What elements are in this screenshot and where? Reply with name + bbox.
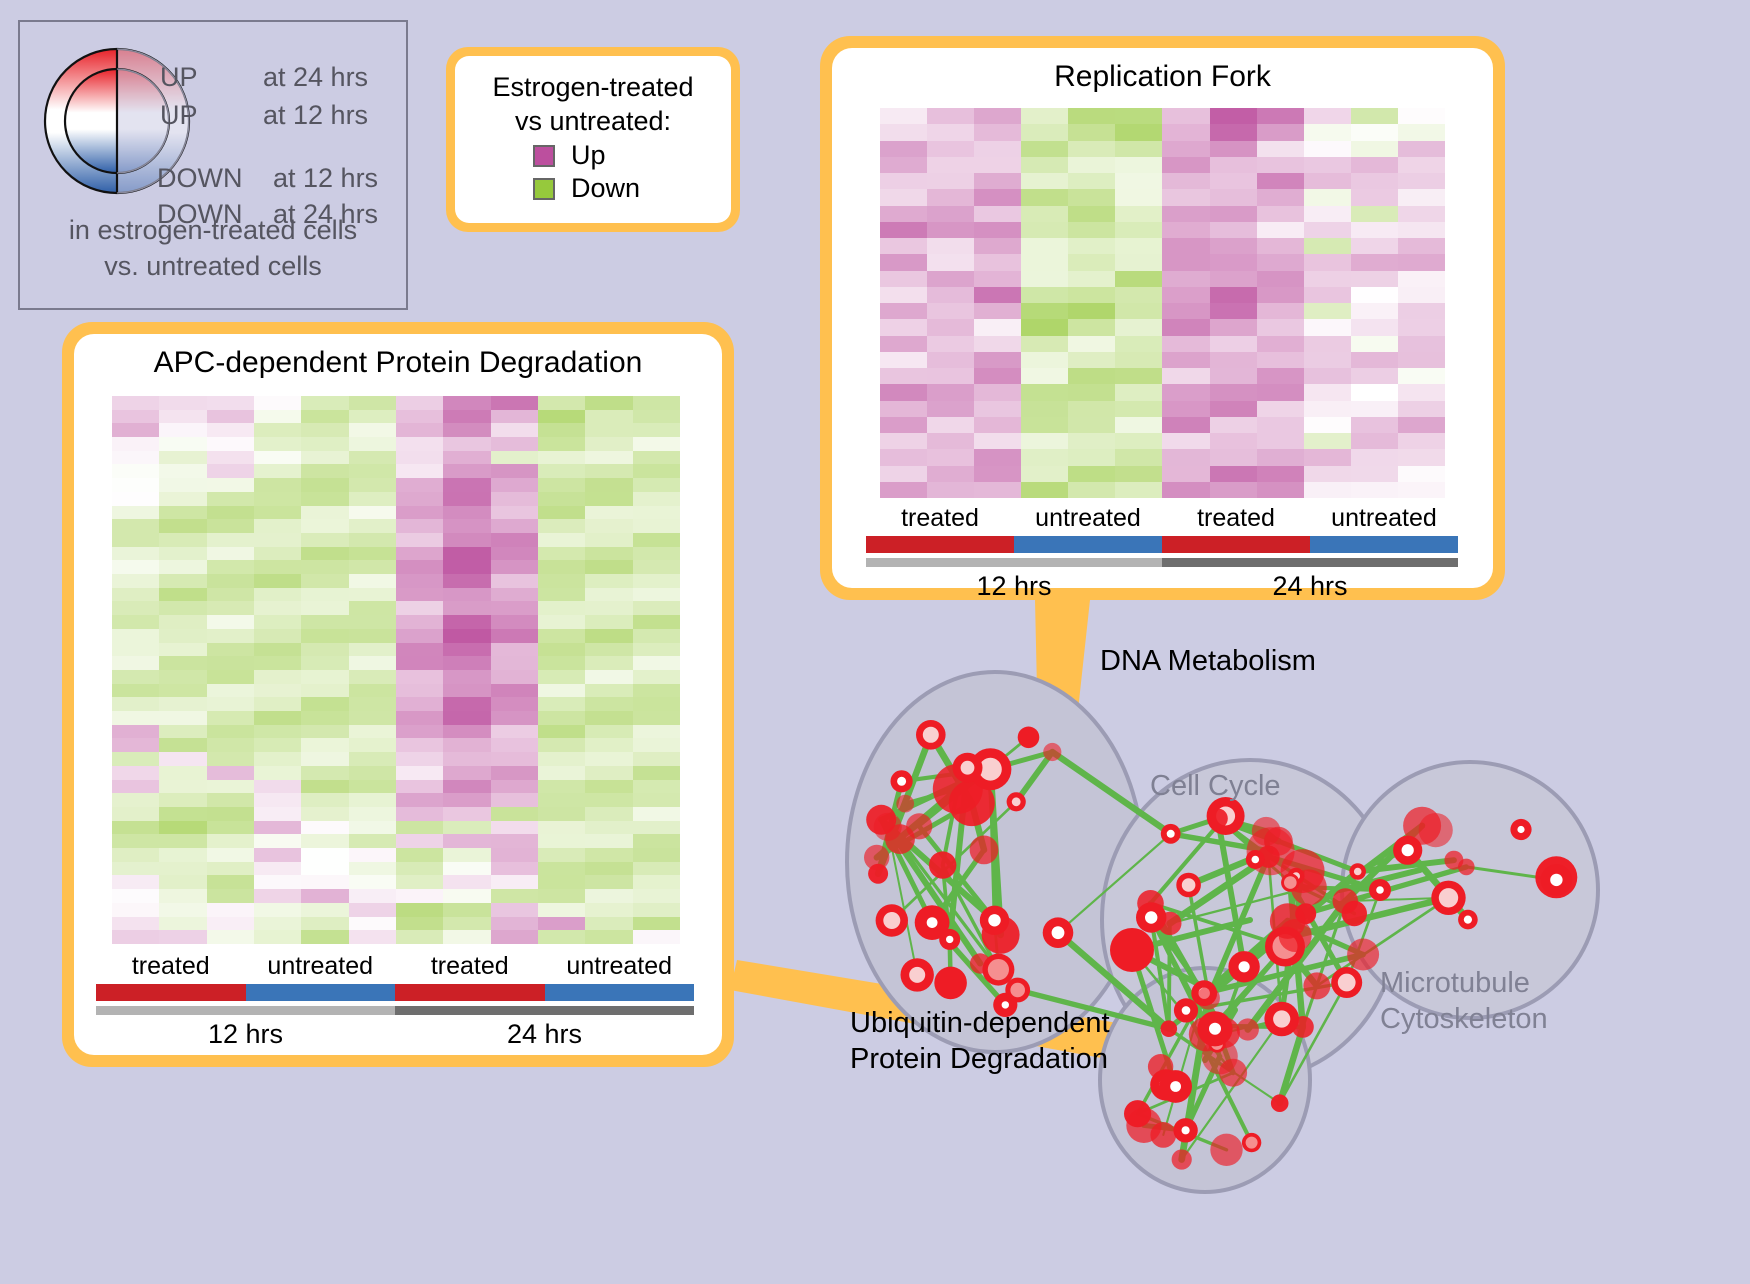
heatmap-cell xyxy=(974,319,1021,335)
heatmap-cell xyxy=(443,862,490,876)
heatmap-cell xyxy=(301,780,348,794)
heatmap-cell xyxy=(159,588,206,602)
heatmap-cell xyxy=(254,574,301,588)
heatmap-cell xyxy=(301,793,348,807)
heatmap-cell xyxy=(974,222,1021,238)
heatmap-cell xyxy=(1162,433,1209,449)
heatmap-cell xyxy=(585,752,632,766)
network-node xyxy=(934,967,967,1000)
heatmap-cell xyxy=(396,848,443,862)
heatmap-cell xyxy=(1351,124,1398,140)
bar-untreated-24 xyxy=(1310,536,1458,553)
heatmap-cell xyxy=(301,807,348,821)
network-node-core xyxy=(988,959,1009,980)
heatmap-cell xyxy=(927,206,974,222)
heatmap-cell xyxy=(491,917,538,931)
heatmap-cell xyxy=(974,336,1021,352)
heatmap-cell xyxy=(633,766,680,780)
heatmap-cell xyxy=(443,807,490,821)
heatmap-cell xyxy=(1115,141,1162,157)
heatmap-cell xyxy=(443,917,490,931)
heatmap-cell xyxy=(254,615,301,629)
heatmap-cell xyxy=(396,697,443,711)
heatmap-cell xyxy=(1210,352,1257,368)
heatmap-cell xyxy=(301,410,348,424)
heatmap-cell xyxy=(349,862,396,876)
heatmap-cell xyxy=(927,401,974,417)
heatmap-cell xyxy=(1210,482,1257,498)
heatmap-cell xyxy=(396,656,443,670)
heatmap-cell xyxy=(301,711,348,725)
heatmap-cell xyxy=(301,862,348,876)
heatmap-cell xyxy=(1210,173,1257,189)
heatmap-cell xyxy=(974,482,1021,498)
heatmap-cell xyxy=(538,643,585,657)
heatmap-cell xyxy=(1115,271,1162,287)
heatmap-cell xyxy=(1068,384,1115,400)
heatmap-cell xyxy=(207,601,254,615)
heatmap-cell xyxy=(1304,401,1351,417)
heatmap-cell xyxy=(207,752,254,766)
heatmap-cell xyxy=(159,917,206,931)
heatmap-cell xyxy=(443,766,490,780)
heatmap-cell xyxy=(491,437,538,451)
heatmap-cell xyxy=(159,629,206,643)
heatmap-cell xyxy=(1257,352,1304,368)
heatmap-cell xyxy=(491,848,538,862)
bar-untreated-12 xyxy=(246,984,396,1001)
time-labels-apc: 12 hrs 24 hrs xyxy=(96,1019,694,1050)
heatmap-cell xyxy=(880,384,927,400)
heatmap-cell xyxy=(491,451,538,465)
heatmap-cell xyxy=(1398,466,1445,482)
heatmap-cell xyxy=(443,437,490,451)
heatmap-cell xyxy=(112,506,159,520)
network-node xyxy=(1161,1020,1178,1037)
heatmap-cell xyxy=(301,656,348,670)
heatmap-cell xyxy=(1068,336,1115,352)
heatmap-cell xyxy=(1351,141,1398,157)
heatmap-cell xyxy=(159,492,206,506)
heatmap-cell xyxy=(159,793,206,807)
heatmap-cell xyxy=(927,124,974,140)
heatmap-cell xyxy=(633,533,680,547)
heatmap-cell xyxy=(112,588,159,602)
heatmap-cell xyxy=(112,601,159,615)
heatmap-cell xyxy=(1257,401,1304,417)
cluster-label-ubiquitin: Ubiquitin-dependent Protein Degradation xyxy=(850,1005,1110,1077)
heatmap-cell xyxy=(491,656,538,670)
group-label-treated-12: treated xyxy=(866,504,1014,533)
network-node-core xyxy=(1338,974,1356,992)
network-node xyxy=(1197,986,1220,1009)
heatmap-cell xyxy=(159,738,206,752)
heatmap-cell xyxy=(349,547,396,561)
heatmap-cell xyxy=(443,834,490,848)
heatmap-cell xyxy=(349,643,396,657)
heatmap-cell xyxy=(491,396,538,410)
heatmap-cell xyxy=(538,834,585,848)
heatmap-cell xyxy=(585,917,632,931)
group-label-untreated-12: untreated xyxy=(1014,504,1162,533)
heatmap-cell xyxy=(1068,352,1115,368)
heatmap-cell xyxy=(1304,254,1351,270)
heatmap-cell xyxy=(396,533,443,547)
heatmap-cell xyxy=(880,238,927,254)
heatmap-cell xyxy=(974,238,1021,254)
heatmap-cell xyxy=(1304,319,1351,335)
heatmap-cell xyxy=(585,670,632,684)
heatmap-cell xyxy=(1021,287,1068,303)
heatmap-cell xyxy=(1162,108,1209,124)
heatmap-cell xyxy=(254,889,301,903)
heatmap-cell xyxy=(159,396,206,410)
heatmap-cell xyxy=(633,492,680,506)
heatmap-cell xyxy=(1115,254,1162,270)
heatmap-cell xyxy=(443,903,490,917)
heatmap-cell xyxy=(1068,173,1115,189)
heatmap-cell xyxy=(633,423,680,437)
heatmap-cell xyxy=(159,601,206,615)
heatmap-cell xyxy=(112,519,159,533)
heatmap-cell xyxy=(159,560,206,574)
heatmap-cell xyxy=(1210,141,1257,157)
heatmap-cell xyxy=(633,464,680,478)
cluster-label-dna-metabolism: DNA Metabolism xyxy=(1100,645,1316,678)
heatmap-cell xyxy=(1304,287,1351,303)
heatmap-cell xyxy=(1210,124,1257,140)
heatmap-cell xyxy=(443,396,490,410)
heatmap-cell xyxy=(396,464,443,478)
heatmap-cell xyxy=(349,601,396,615)
network-node-core xyxy=(1052,926,1065,939)
heatmap-cell xyxy=(254,917,301,931)
heatmap-cell xyxy=(633,793,680,807)
heatmap-cell xyxy=(1068,433,1115,449)
heatmap-cell xyxy=(1162,336,1209,352)
heatmap-cell xyxy=(974,384,1021,400)
heatmap-cell xyxy=(1115,466,1162,482)
panel-replication-fork: Replication Fork treated untreated treat… xyxy=(820,36,1505,600)
heatmap-cell xyxy=(207,711,254,725)
network-node-core xyxy=(1439,888,1458,907)
heatmap-cell xyxy=(207,437,254,451)
network-node xyxy=(896,795,914,813)
heatmap-cell xyxy=(254,752,301,766)
heatmap-cell xyxy=(443,588,490,602)
heatmap-cell xyxy=(927,417,974,433)
heatmap-cell xyxy=(585,533,632,547)
heatmap-cell xyxy=(112,738,159,752)
heatmap-cell xyxy=(1398,352,1445,368)
heatmap-cell xyxy=(538,752,585,766)
heatmap-cell xyxy=(491,615,538,629)
heatmap-cell xyxy=(159,889,206,903)
heatmap-cell xyxy=(1257,238,1304,254)
heatmap-cell xyxy=(443,574,490,588)
heatmap-cell xyxy=(207,903,254,917)
network-node xyxy=(1172,1149,1192,1169)
heatmap-cell xyxy=(880,222,927,238)
heatmap-cell xyxy=(396,670,443,684)
bar-treated-24 xyxy=(1162,536,1310,553)
heatmap-cell xyxy=(396,492,443,506)
heatmap-cell xyxy=(349,834,396,848)
heatmap-cell xyxy=(254,643,301,657)
heatmap-cell xyxy=(880,108,927,124)
heatmap-cell xyxy=(585,478,632,492)
heatmap-cell xyxy=(112,917,159,931)
heatmap-cell xyxy=(538,396,585,410)
heatmap-cell xyxy=(1021,417,1068,433)
heatmap-cell xyxy=(112,711,159,725)
heatmap-cell xyxy=(254,766,301,780)
heatmap-cell xyxy=(491,588,538,602)
heatmap-cell xyxy=(159,752,206,766)
heatmap-cell xyxy=(1398,189,1445,205)
heatmap-cell xyxy=(1210,466,1257,482)
heatmap-cell xyxy=(880,287,927,303)
heatmap-cell xyxy=(396,725,443,739)
heatmap-cell xyxy=(1257,108,1304,124)
heatmap-cell xyxy=(633,834,680,848)
heatmap-cell xyxy=(396,410,443,424)
heatmap-cell xyxy=(301,547,348,561)
heatmap-cell xyxy=(1115,157,1162,173)
heatmap-cell xyxy=(349,889,396,903)
heatmap-cell xyxy=(1068,401,1115,417)
heatmap-cell xyxy=(254,656,301,670)
heatmap-cell xyxy=(927,303,974,319)
heatmap-cell xyxy=(585,396,632,410)
heatmap-cell xyxy=(538,464,585,478)
heatmap-cell xyxy=(301,738,348,752)
heatmap-cell xyxy=(1210,222,1257,238)
heatmap-cell xyxy=(491,478,538,492)
heatmap-cell xyxy=(1068,466,1115,482)
heatmap-cell xyxy=(1162,417,1209,433)
heatmap-cell xyxy=(491,547,538,561)
heatmap-cell xyxy=(1021,189,1068,205)
panel-apc-degradation: APC-dependent Protein Degradation treate… xyxy=(62,322,734,1067)
heatmap-cell xyxy=(207,547,254,561)
heatmap-cell xyxy=(207,396,254,410)
bar-12hrs xyxy=(96,1006,395,1015)
heatmap-cell xyxy=(633,410,680,424)
heatmap-cell xyxy=(1351,417,1398,433)
heatmap-cell xyxy=(349,560,396,574)
heatmap-cell xyxy=(207,560,254,574)
heatmap-cell xyxy=(349,423,396,437)
heatmap-cell xyxy=(633,780,680,794)
heatmap-cell xyxy=(207,464,254,478)
heatmap-cell xyxy=(1162,319,1209,335)
cluster-label-microtubule-line1: Microtubule xyxy=(1380,965,1548,1001)
heatmap-cell xyxy=(1304,368,1351,384)
heatmap-cell xyxy=(254,670,301,684)
heatmap-cell xyxy=(1162,466,1209,482)
heatmap-cell xyxy=(254,738,301,752)
bar-treated-12 xyxy=(866,536,1014,553)
heatmap-cell xyxy=(974,157,1021,173)
heatmap-cell xyxy=(1304,449,1351,465)
heatmap-cell xyxy=(254,547,301,561)
heatmap-cell xyxy=(880,433,927,449)
heatmap-cell xyxy=(491,725,538,739)
heatmap-cell xyxy=(1257,368,1304,384)
heatmap-cell xyxy=(974,173,1021,189)
heatmap-cell xyxy=(585,684,632,698)
heatmap-cell xyxy=(1068,206,1115,222)
heatmap-cell xyxy=(633,807,680,821)
up-down-legend-title: Estrogen-treated vs untreated: xyxy=(465,70,721,138)
heatmap-cell xyxy=(585,410,632,424)
heatmap-cell xyxy=(633,560,680,574)
heatmap-cell xyxy=(159,711,206,725)
heatmap-cell xyxy=(1304,336,1351,352)
heatmap-cell xyxy=(301,437,348,451)
heatmap-cell xyxy=(159,684,206,698)
heatmap-cell xyxy=(1021,352,1068,368)
network-node xyxy=(1271,1094,1289,1112)
heatmap-cell xyxy=(1210,189,1257,205)
heatmap-cell xyxy=(491,903,538,917)
heatmap-cell xyxy=(1021,449,1068,465)
heatmap-cell xyxy=(207,725,254,739)
heatmap-cell xyxy=(538,862,585,876)
heatmap-cell xyxy=(538,437,585,451)
heatmap-cell xyxy=(159,478,206,492)
heatmap-cell xyxy=(254,725,301,739)
heatmap-cell xyxy=(443,506,490,520)
heatmap-cell xyxy=(538,656,585,670)
heatmap-cell xyxy=(1021,206,1068,222)
heatmap-cell xyxy=(1162,206,1209,222)
heatmap-cell xyxy=(538,780,585,794)
heatmap-cell xyxy=(443,670,490,684)
heatmap-cell xyxy=(396,574,443,588)
heatmap-cell xyxy=(1115,206,1162,222)
heatmap-cell xyxy=(1398,336,1445,352)
legend-ring-label-up-12: UP xyxy=(160,100,198,131)
heatmap-cell xyxy=(112,889,159,903)
heatmap-cell xyxy=(585,697,632,711)
heatmap-cell xyxy=(1257,206,1304,222)
heatmap-cell xyxy=(207,697,254,711)
heatmap-cell xyxy=(974,352,1021,368)
heatmap-cell xyxy=(301,875,348,889)
heatmap-cell xyxy=(974,141,1021,157)
heatmap-cell xyxy=(585,889,632,903)
heatmap-cell xyxy=(443,738,490,752)
heatmap-cell xyxy=(301,670,348,684)
heatmap-cell xyxy=(207,629,254,643)
heatmap-cell xyxy=(301,821,348,835)
heatmap-cell xyxy=(112,684,159,698)
heatmap-cell xyxy=(349,875,396,889)
heatmap-cell xyxy=(538,711,585,725)
heatmap-cell xyxy=(1115,482,1162,498)
heatmap-cell xyxy=(1304,303,1351,319)
heatmap-cell xyxy=(538,793,585,807)
heatmap-cell xyxy=(538,766,585,780)
heatmap-cell xyxy=(1351,466,1398,482)
bar-treated-12 xyxy=(96,984,246,1001)
network-node-core xyxy=(988,914,1000,926)
heatmap-cell xyxy=(491,423,538,437)
heatmap-cell xyxy=(1068,482,1115,498)
legend-caption-line1: in estrogen-treated cells xyxy=(20,212,406,248)
network-node-core xyxy=(1239,961,1250,972)
heatmap-cell xyxy=(159,834,206,848)
heatmap-cell xyxy=(443,875,490,889)
cluster-label-ubiquitin-line1: Ubiquitin-dependent xyxy=(850,1005,1110,1041)
heatmap-cell xyxy=(1351,206,1398,222)
heatmap-cell xyxy=(396,821,443,835)
heatmap-cell xyxy=(1351,238,1398,254)
heatmap-cell xyxy=(112,766,159,780)
network-node xyxy=(1347,939,1379,971)
heatmap-cell xyxy=(974,189,1021,205)
heatmap-cell xyxy=(112,560,159,574)
heatmap-cell xyxy=(1210,417,1257,433)
network-node xyxy=(970,836,999,865)
heatmap-cell xyxy=(207,423,254,437)
network-node-core xyxy=(946,936,953,943)
heatmap-cell xyxy=(1115,173,1162,189)
heatmap-cell xyxy=(159,780,206,794)
heatmap-cell xyxy=(159,766,206,780)
heatmap-cell xyxy=(633,684,680,698)
heatmap-cell xyxy=(443,451,490,465)
cluster-label-cell-cycle: Cell Cycle xyxy=(1150,770,1281,803)
heatmap-cell xyxy=(254,862,301,876)
network-node xyxy=(1210,1134,1242,1166)
heatmap-cell xyxy=(585,615,632,629)
heatmap-cell xyxy=(254,423,301,437)
heatmap-cell xyxy=(1162,222,1209,238)
heatmap-cell xyxy=(491,821,538,835)
heatmap-cell xyxy=(396,752,443,766)
heatmap-cell xyxy=(301,629,348,643)
heatmap-cell xyxy=(974,433,1021,449)
axis-replication-fork: treated untreated treated untreated 12 h… xyxy=(866,504,1458,602)
heatmap-cell xyxy=(1068,189,1115,205)
panel-replication-fork-title: Replication Fork xyxy=(832,48,1493,94)
heatmap-cell xyxy=(396,519,443,533)
heatmap-cell xyxy=(1162,238,1209,254)
heatmap-cell xyxy=(491,629,538,643)
heatmap-cell xyxy=(207,643,254,657)
heatmap-cell xyxy=(1210,449,1257,465)
heatmap-cell xyxy=(1210,336,1257,352)
heatmap-cell xyxy=(1351,254,1398,270)
heatmap-cell xyxy=(1351,173,1398,189)
heatmap-cell xyxy=(927,466,974,482)
color-scale-legend: UP at 24 hrs UP at 12 hrs DOWN at 12 hrs… xyxy=(18,20,408,310)
heatmap-cell xyxy=(633,889,680,903)
heatmap-cell xyxy=(159,464,206,478)
heatmap-cell xyxy=(491,506,538,520)
heatmap-cell xyxy=(585,766,632,780)
heatmap-cell xyxy=(1398,141,1445,157)
heatmap-cell xyxy=(207,848,254,862)
heatmap-cell xyxy=(301,492,348,506)
heatmap-cell xyxy=(585,711,632,725)
heatmap-cell xyxy=(1068,319,1115,335)
legend-item-down-label: Down xyxy=(571,173,640,204)
heatmap-cell xyxy=(585,862,632,876)
